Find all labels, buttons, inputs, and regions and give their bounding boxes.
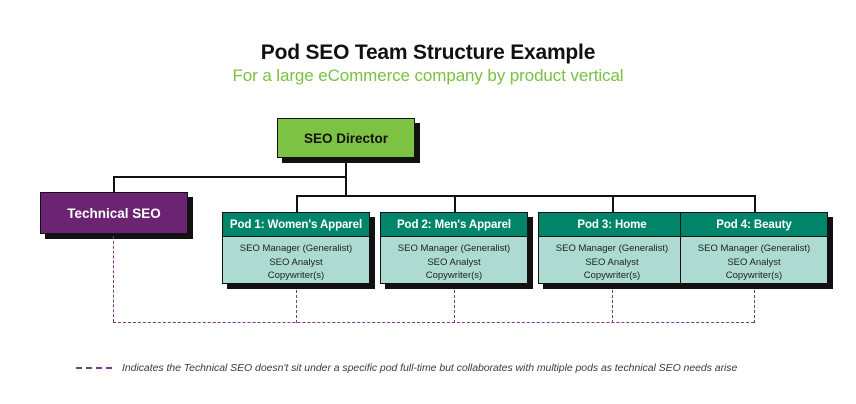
pod-card-title: Pod 2: Men's Apparel [397, 219, 511, 231]
connector-technical-seo-drop [113, 176, 115, 193]
pod-card-body: SEO Manager (Generalist) SEO Analyst Cop… [381, 237, 527, 283]
pod-card[interactable]: Pod 2: Men's Apparel SEO Manager (Genera… [380, 212, 528, 284]
pod-card-title: Pod 3: Home [577, 219, 646, 231]
dashed-line-legend-icon [76, 367, 112, 369]
dashed-collaboration-bus [113, 322, 754, 323]
connector-pod-drop-2 [454, 195, 456, 213]
pod-role: SEO Analyst [223, 256, 369, 270]
pod-card-header: Pod 3: Home [539, 213, 685, 237]
page-subtitle: For a large eCommerce company by product… [0, 66, 856, 86]
pod-role: SEO Manager (Generalist) [539, 242, 685, 256]
pod-role: SEO Analyst [381, 256, 527, 270]
pod-card-title: Pod 1: Women's Apparel [230, 219, 362, 231]
pod-card[interactable]: Pod 3: Home SEO Manager (Generalist) SEO… [538, 212, 686, 284]
org-chart-diagram: Pod SEO Team Structure Example For a lar… [0, 0, 856, 404]
connector-pod-drop-3 [612, 195, 614, 213]
pod-role: SEO Manager (Generalist) [381, 242, 527, 256]
pod-card-body: SEO Manager (Generalist) SEO Analyst Cop… [539, 237, 685, 283]
page-title: Pod SEO Team Structure Example [0, 41, 856, 65]
pod-role: Copywriter(s) [223, 269, 369, 283]
connector-upper-bus [113, 176, 346, 178]
node-technical-seo[interactable]: Technical SEO [40, 192, 188, 234]
node-technical-seo-label: Technical SEO [67, 206, 161, 221]
pod-role: Copywriter(s) [681, 269, 827, 283]
dashed-pod-link-3 [612, 290, 613, 323]
connector-pod-bus-stem [345, 176, 347, 196]
pod-role: SEO Analyst [681, 256, 827, 270]
pod-card-header: Pod 4: Beauty [681, 213, 827, 237]
pod-card-header: Pod 1: Women's Apparel [223, 213, 369, 237]
connector-director-stem [345, 159, 347, 177]
dashed-pod-link-4 [754, 290, 755, 323]
connector-pod-bus [296, 195, 755, 197]
pod-card-title: Pod 4: Beauty [716, 219, 791, 231]
pod-card-header: Pod 2: Men's Apparel [381, 213, 527, 237]
pod-role: SEO Analyst [539, 256, 685, 270]
dashed-pod-link-2 [454, 290, 455, 323]
node-seo-director-label: SEO Director [304, 131, 388, 146]
pod-card[interactable]: Pod 1: Women's Apparel SEO Manager (Gene… [222, 212, 370, 284]
footnote: Indicates the Technical SEO doesn't sit … [76, 362, 737, 374]
pod-card-body: SEO Manager (Generalist) SEO Analyst Cop… [223, 237, 369, 283]
node-seo-director[interactable]: SEO Director [277, 118, 415, 158]
pod-card-body: SEO Manager (Generalist) SEO Analyst Cop… [681, 237, 827, 283]
dashed-technical-seo-drop [113, 236, 114, 322]
connector-pod-drop-4 [754, 195, 756, 213]
pod-role: Copywriter(s) [539, 269, 685, 283]
pod-role: SEO Manager (Generalist) [223, 242, 369, 256]
connector-pod-drop-1 [296, 195, 298, 213]
pod-card[interactable]: Pod 4: Beauty SEO Manager (Generalist) S… [680, 212, 828, 284]
footnote-text: Indicates the Technical SEO doesn't sit … [122, 362, 737, 374]
pod-role: SEO Manager (Generalist) [681, 242, 827, 256]
pod-role: Copywriter(s) [381, 269, 527, 283]
dashed-pod-link-1 [296, 290, 297, 323]
